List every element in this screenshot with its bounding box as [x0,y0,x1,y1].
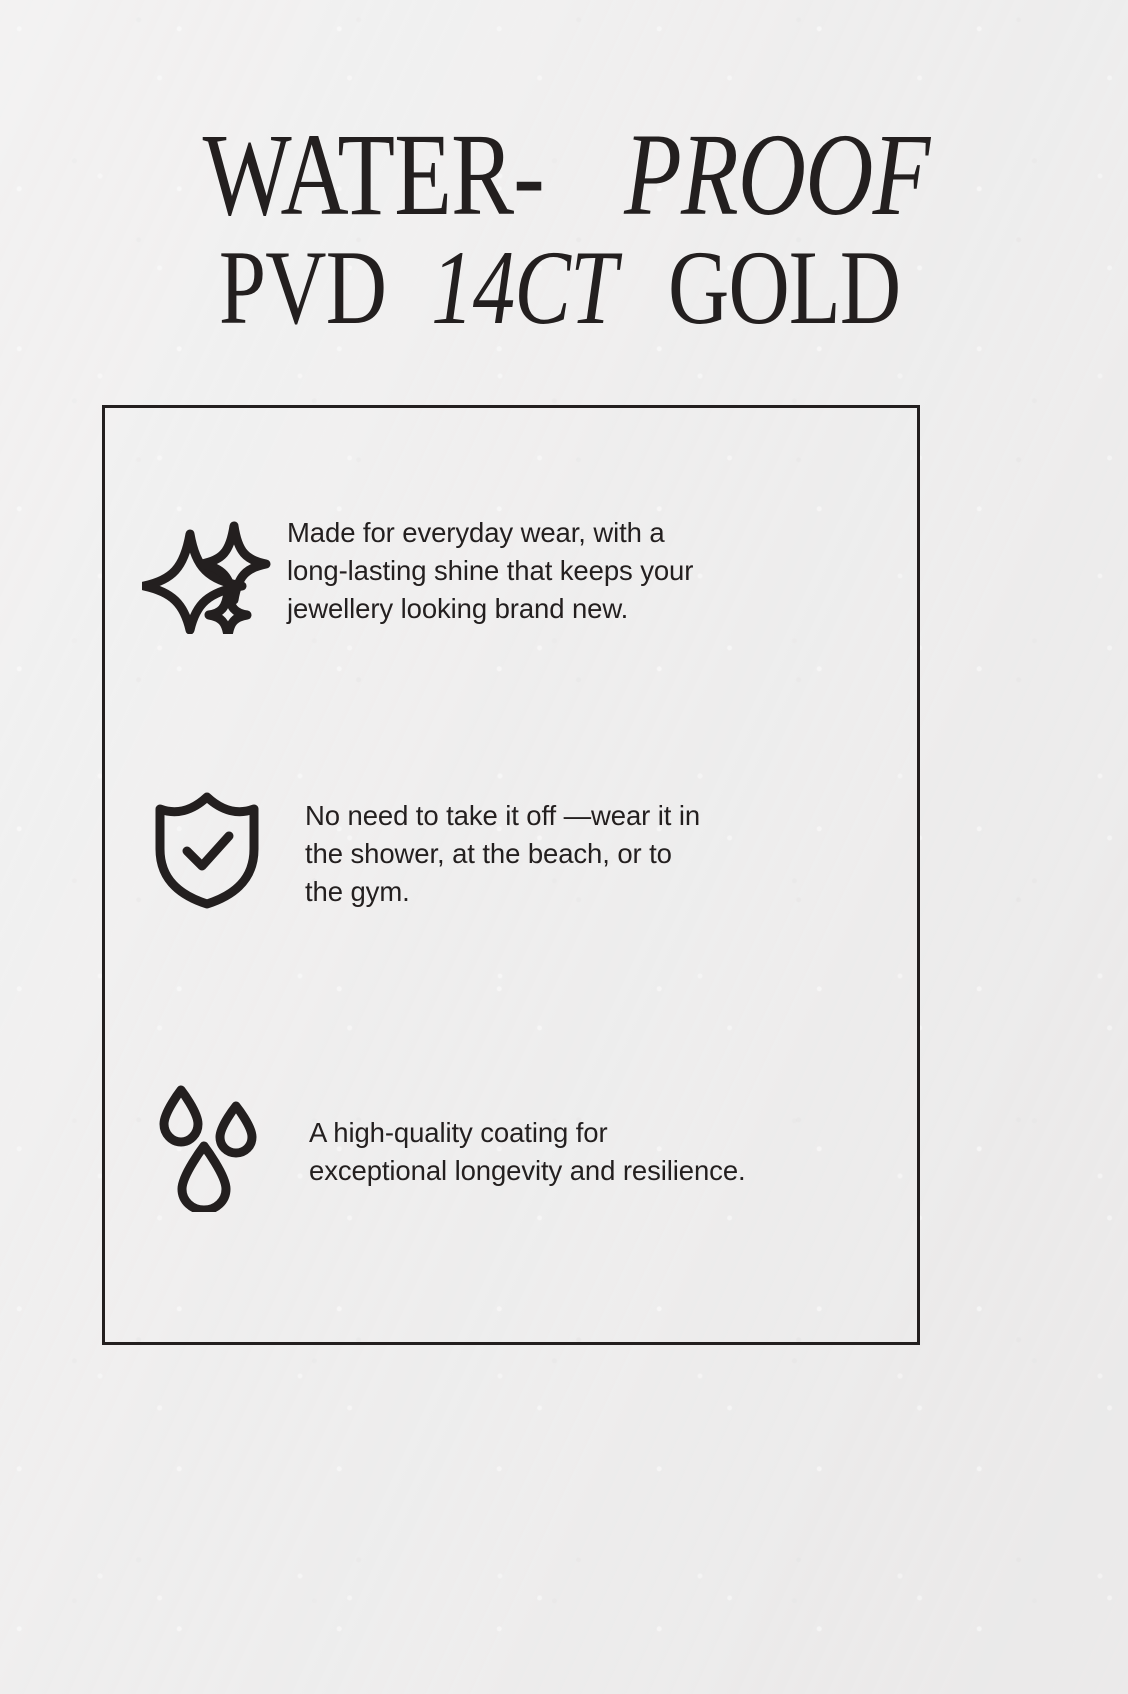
title-line-1: WATER-PROOF [0,118,1128,231]
feature-text-waterproof-wear: No need to take it off —wear it in the s… [273,783,887,911]
feature-text-coating-quality: A high-quality coating for exceptional l… [273,1080,887,1190]
shield-check-icon [141,783,273,909]
title-word-gold: GOLD [668,237,900,339]
title-word-pvd: PVD [219,237,386,339]
title-word-14ct: 14CT [431,237,616,339]
feature-item-everyday-wear: Made for everyday wear, with a long-last… [141,508,887,634]
title-word-water: WATER- [203,118,544,231]
water-drops-icon [141,1080,273,1212]
feature-text-everyday-wear: Made for everyday wear, with a long-last… [273,508,887,628]
feature-item-coating-quality: A high-quality coating for exceptional l… [141,1080,887,1212]
title-line-2: PVD 14CT GOLD [0,237,1128,339]
title-word-proof: PROOF [625,118,930,231]
page-title: WATER-PROOF PVD 14CT GOLD [0,118,1128,339]
features-panel: Made for everyday wear, with a long-last… [102,405,920,1345]
feature-item-waterproof-wear: No need to take it off —wear it in the s… [141,783,887,911]
sparkles-icon [141,508,273,634]
